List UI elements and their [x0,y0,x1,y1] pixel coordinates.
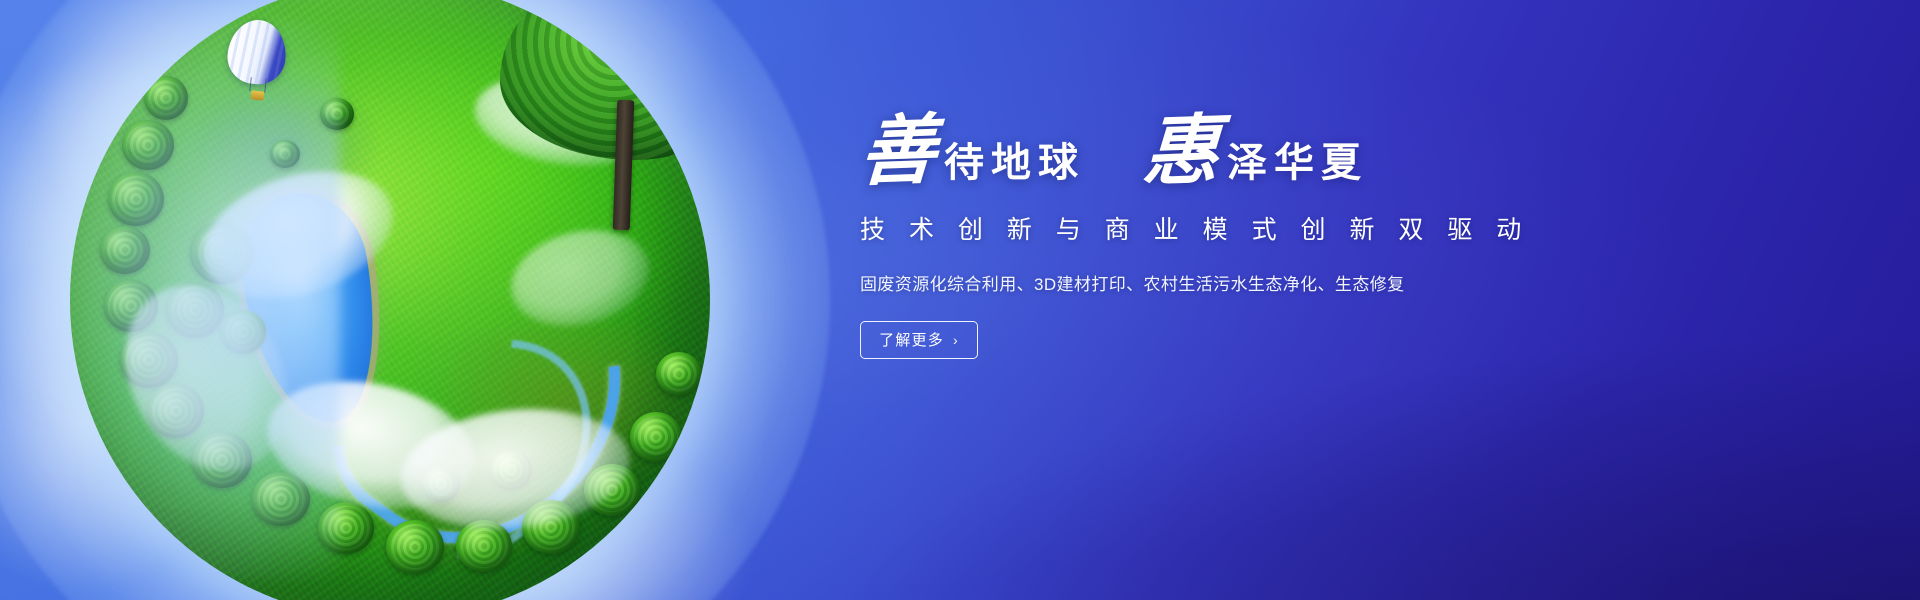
headline-char-1: 善 [858,117,938,190]
globe-surface [70,0,710,600]
green-globe [70,0,710,600]
tree-icon [422,466,460,502]
page-title: 善 待地球 惠 泽华夏 [860,118,1620,188]
headline-text-1: 待地球 [944,143,1085,188]
tree-icon [656,352,702,396]
learn-more-button[interactable]: 了解更多 › [860,321,978,359]
hero-content: 善 待地球 惠 泽华夏 技 术 创 新 与 商 业 模 式 创 新 双 驱 动 … [860,118,1620,359]
little-planet-illustration [0,0,870,600]
balloon-envelope [225,17,289,87]
chevron-right-icon: › [953,333,959,347]
hero-description: 固废资源化综合利用、3D建材打印、农村生活污水生态净化、生态修复 [860,270,1620,295]
tree-icon [522,500,580,554]
hero-banner: 善 待地球 惠 泽华夏 技 术 创 新 与 商 业 模 式 创 新 双 驱 动 … [0,0,1920,600]
tree-icon [630,412,682,462]
tree-icon [456,520,512,572]
headline-text-2: 泽华夏 [1227,143,1368,188]
hero-subtitle: 技 术 创 新 与 商 业 模 式 创 新 双 驱 动 [860,210,1620,246]
atmosphere-haze [70,20,340,580]
hot-air-balloon-icon [228,20,290,106]
headline-char-2: 惠 [1141,117,1221,190]
learn-more-label: 了解更多 [879,329,944,350]
tree-icon [584,464,640,516]
balloon-basket [251,90,265,100]
tree-icon [490,450,532,490]
tree-icon [386,520,444,574]
